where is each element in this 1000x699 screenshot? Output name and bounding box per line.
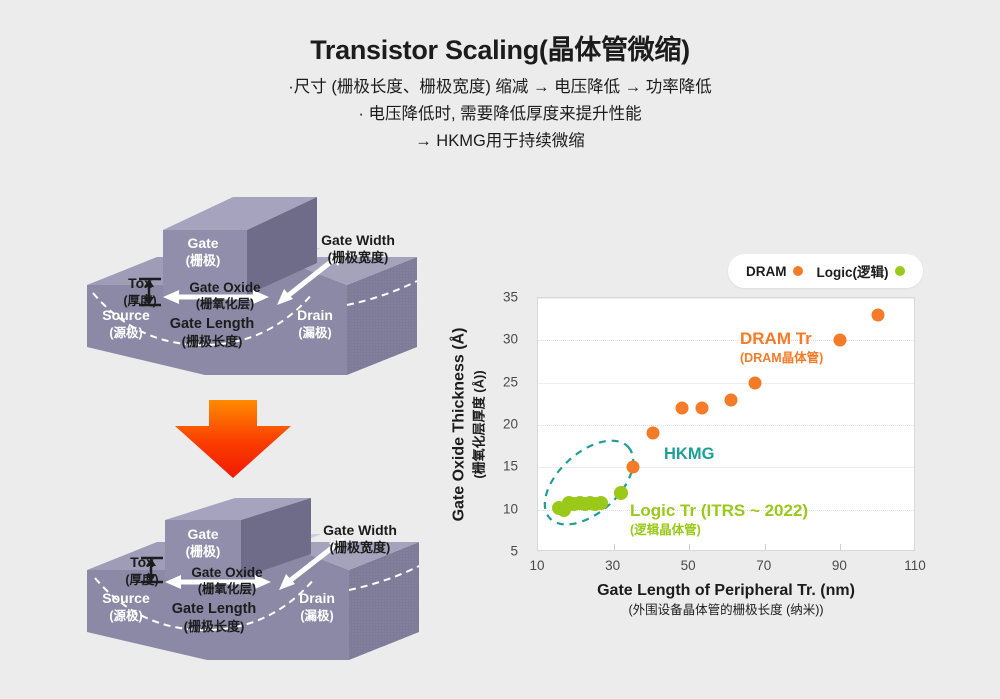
x-tick-label: 70 xyxy=(742,558,786,573)
x-tick-label: 10 xyxy=(515,558,559,573)
data-point-dram xyxy=(872,308,885,321)
data-point-logic xyxy=(614,486,628,500)
slide-root: Transistor Scaling(晶体管微缩) ·尺寸 (栅极长度、栅极宽度… xyxy=(0,0,1000,699)
tox-label-bottom: Tox(厚度) xyxy=(111,554,173,589)
chart-legend: DRAMLogic(逻辑) xyxy=(728,254,923,288)
data-point-dram xyxy=(724,393,737,406)
annotation-logic-tr-main: Logic Tr (ITRS ~ 2022) xyxy=(630,500,808,521)
x-axis-title-main: Gate Length of Peripheral Tr. (nm) xyxy=(537,580,915,601)
transistor-diagram-top: Gate(栅极) Gate Width(栅极宽度) Gate Oxide(栅氧化… xyxy=(85,185,445,400)
drain-label-bottom: Drain(漏极) xyxy=(277,590,357,625)
data-point-dram xyxy=(675,402,688,415)
annotation-hkmg: HKMG xyxy=(664,445,714,464)
source-label-bottom: Source(源极) xyxy=(83,590,169,625)
x-tick-label: 50 xyxy=(666,558,710,573)
y-axis-title-main: Gate Oxide Thickness (Å) xyxy=(450,327,470,521)
gate-width-label-bottom: Gate Width(栅极宽度) xyxy=(300,522,420,556)
legend-swatch xyxy=(793,266,803,276)
y-tick-label: 35 xyxy=(478,290,518,305)
annotation-logic-tr-sub: (逻辑晶体管) xyxy=(630,521,808,539)
gate-label-top: Gate(栅极) xyxy=(153,235,253,269)
y-tick-label: 25 xyxy=(478,374,518,389)
y-tick-label: 15 xyxy=(478,459,518,474)
x-tick-label: 30 xyxy=(591,558,635,573)
y-tick-label: 20 xyxy=(478,417,518,432)
annotation-dram-tr-main: DRAM Tr xyxy=(740,328,823,349)
y-tick-label: 5 xyxy=(478,544,518,559)
data-point-dram xyxy=(749,376,762,389)
source-label-top: Source(源极) xyxy=(83,307,169,342)
transistor-diagram-bottom: Gate(栅极) Gate Width(栅极宽度) Gate Oxide(栅氧化… xyxy=(85,498,445,673)
page-title: Transistor Scaling(晶体管微缩) xyxy=(0,28,1000,67)
data-point-dram xyxy=(626,461,639,474)
x-tick-label: 90 xyxy=(817,558,861,573)
gate-oxide-label-bottom: Gate Oxide(栅氧化层) xyxy=(173,565,281,597)
x-tick-label: 110 xyxy=(893,558,937,573)
bullet-list: ·尺寸 (栅极长度、栅极宽度) 缩减 → 电压降低 → 功率降低 · 电压降低时… xyxy=(0,74,1000,155)
legend-item[interactable]: Logic(逻辑) xyxy=(817,261,905,281)
data-point-logic xyxy=(594,496,608,510)
y-tick-label: 10 xyxy=(478,501,518,516)
legend-item[interactable]: DRAM xyxy=(746,264,803,279)
scatter-chart: DRAMLogic(逻辑) Gate Oxide Thickness (Å) (… xyxy=(440,250,1000,650)
legend-label: Logic(逻辑) xyxy=(817,261,889,281)
bullet-line-2: · 电压降低时, 需要降低厚度来提升性能 xyxy=(0,101,1000,128)
x-axis-title-sub: (外围设备晶体管的栅极长度 (纳米)) xyxy=(537,601,915,620)
data-point-dram xyxy=(696,402,709,415)
annotation-dram-tr: DRAM Tr (DRAM晶体管) xyxy=(740,328,823,367)
drain-label-top: Drain(漏极) xyxy=(275,307,355,342)
bullet-line-1: ·尺寸 (栅极长度、栅极宽度) 缩减 → 电压降低 → 功率降低 xyxy=(0,74,1000,101)
annotation-dram-tr-sub: (DRAM晶体管) xyxy=(740,349,823,367)
gate-oxide-label-top: Gate Oxide(栅氧化层) xyxy=(170,280,280,312)
data-point-dram xyxy=(834,334,847,347)
gate-width-label-top: Gate Width(栅极宽度) xyxy=(298,232,418,266)
annotation-logic-tr: Logic Tr (ITRS ~ 2022) (逻辑晶体管) xyxy=(630,500,808,539)
data-point-dram xyxy=(647,427,660,440)
legend-label: DRAM xyxy=(746,264,787,279)
bullet-line-3: → HKMG用于持续微缩 xyxy=(0,128,1000,155)
y-tick-label: 30 xyxy=(478,332,518,347)
scaling-down-arrow xyxy=(173,398,293,480)
x-axis-title: Gate Length of Peripheral Tr. (nm) (外围设备… xyxy=(537,580,915,620)
tox-label-top: Tox(厚度) xyxy=(109,275,171,310)
legend-swatch xyxy=(895,266,905,276)
